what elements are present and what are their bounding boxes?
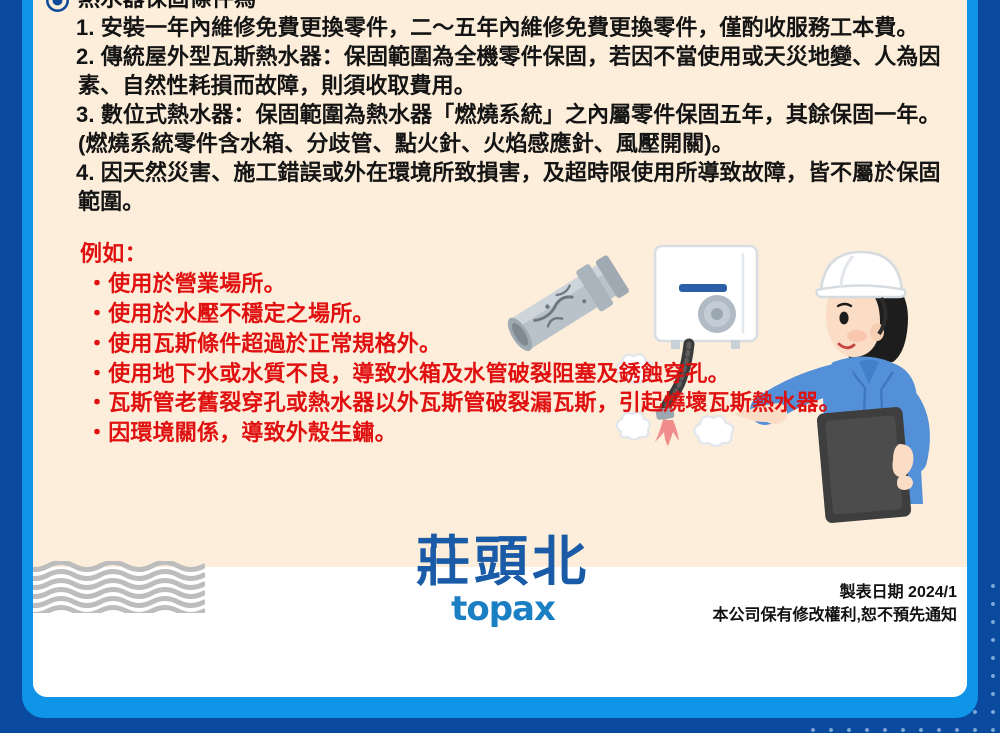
clause-item: 3. 數位式熱水器：保固範圍為熱水器「燃燒系統」之內屬零件保固五年，其餘保固一年… [78, 100, 959, 158]
content-card: 熱水器保固條件為 1. 安裝一年內維修免費更換零件，二～五年內維修免費更換零件，… [33, 0, 967, 697]
target-radio-icon [46, 0, 69, 12]
footer-date: 製表日期 2024/1 [713, 581, 957, 604]
footer-disclaimer: 本公司保有修改權利,恕不預先通知 [713, 604, 957, 627]
clause-item: 1. 安裝一年內維修免費更換零件，二～五年內維修免費更換零件，僅酌收服務工本費。 [78, 13, 959, 42]
warranty-content: 熱水器保固條件為 1. 安裝一年內維修免費更換零件，二～五年內維修免費更換零件，… [33, 0, 967, 567]
example-item: ・使用瓦斯條件超過於正常規格外。 [80, 329, 967, 359]
clause-item: 4. 因天然災害、施工錯誤或外在環境所致損害，及超時限使用所導致故障，皆不屬於保… [78, 158, 959, 216]
brand-logo: 莊頭北 topax [388, 532, 618, 657]
example-item: ・使用於水壓不穩定之場所。 [80, 299, 967, 329]
example-item: ・瓦斯管老舊裂穿孔或熱水器以外瓦斯管破裂漏瓦斯，引起燒壞瓦斯熱水器。 [80, 388, 967, 418]
poster-root: 熱水器保固條件為 1. 安裝一年內維修免費更換零件，二～五年內維修免費更換零件，… [0, 0, 1000, 733]
brand-name-en: topax [388, 589, 618, 629]
examples-title: 例如： [80, 240, 967, 269]
footer: 莊頭北 topax 製表日期 2024/1 本公司保有修改權利,恕不預先通知 [33, 567, 967, 697]
heading-row: 熱水器保固條件為 [33, 0, 967, 12]
footer-note: 製表日期 2024/1 本公司保有修改權利,恕不預先通知 [713, 581, 957, 627]
brand-name-cn: 莊頭北 [388, 532, 618, 591]
clause-item: 2. 傳統屋外型瓦斯熱水器：保固範圍為全機零件保固，若因不當使用或天災地變、人為… [78, 42, 959, 100]
page-title: 熱水器保固條件為 [78, 0, 256, 11]
example-item: ・使用於營業場所。 [80, 269, 967, 299]
example-item: ・使用地下水或水質不良，導致水箱及水管破裂阻塞及銹蝕穿孔。 [80, 359, 967, 389]
examples-section: 例如： ・使用於營業場所。 ・使用於水壓不穩定之場所。 ・使用瓦斯條件超過於正常… [33, 240, 967, 448]
clause-list: 1. 安裝一年內維修免費更換零件，二～五年內維修免費更換零件，僅酌收服務工本費。… [33, 13, 967, 216]
example-item: ・因環境關係，導致外殼生鏽。 [80, 418, 967, 448]
